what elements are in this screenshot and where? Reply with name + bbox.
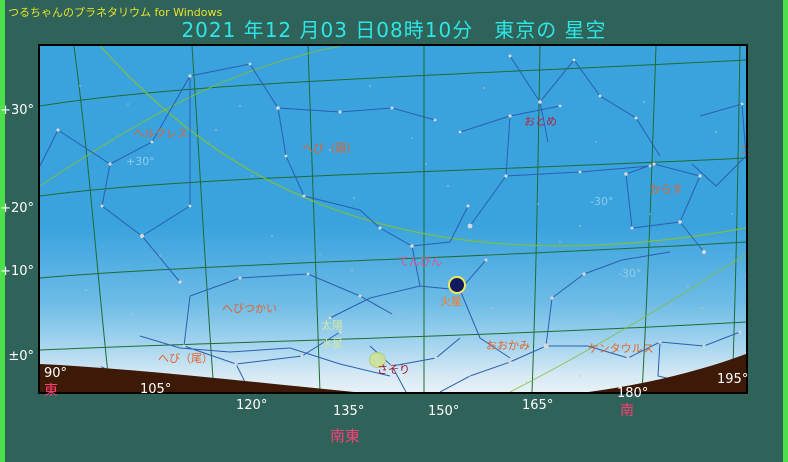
constellation-label-ophiuchus: へびつかい: [222, 303, 277, 314]
azimuth-tick-120: 120°: [236, 398, 267, 413]
constellation-label-corvus: からす: [650, 184, 683, 195]
azimuth-tick-150: 150°: [428, 404, 459, 419]
constellation-label-serpens-caput: へび（頭）: [302, 143, 357, 154]
chart-title: 2021 年12 月03 日08時10分 東京の 星空: [0, 14, 788, 43]
planet-label-mars: 火星: [440, 296, 462, 307]
grid-label-dec-minus30-a: -30°: [590, 196, 613, 207]
azimuth-tick-105: 105°: [140, 382, 171, 397]
azimuth-tick-90: 90°: [44, 366, 67, 381]
azimuth-tick-195: 195°: [717, 372, 748, 387]
altitude-tick-plus20: +20°: [0, 201, 34, 216]
constellation-label-serpens-cauda: へび（尾）: [158, 353, 213, 364]
constellation-label-scorpius: さそり: [377, 364, 410, 375]
constellation-label-centaurus: ケンタウルス: [588, 343, 654, 354]
planet-label-mercury: 水星: [321, 338, 343, 349]
constellation-label-lupus: おおかみ: [486, 340, 530, 351]
azimuth-tick-135: 135°: [333, 404, 364, 419]
azimuth-tick-180: 180°: [617, 386, 648, 401]
direction-label-east: 東: [44, 380, 58, 400]
constellation-label-crater: コップ: [740, 144, 748, 155]
altitude-tick-zero: ±0°: [0, 349, 34, 364]
grid-label-dec-minus30-b: -30°: [618, 268, 641, 279]
altitude-tick-plus30: +30°: [0, 103, 34, 118]
constellation-label-virgo: おとめ: [524, 116, 557, 127]
planet-marker-mars[interactable]: [448, 276, 466, 294]
sky-chart-panel[interactable]: ヘルクレス へび（頭） おとめ コップ からす てんびん へびつかい へび（尾）…: [38, 44, 748, 394]
constellation-label-hercules: ヘルクレス: [133, 128, 188, 139]
constellation-label-libra: てんびん: [398, 256, 442, 267]
horizon-ground: [40, 46, 746, 392]
grid-label-dec-plus30: +30°: [126, 156, 155, 167]
azimuth-tick-165: 165°: [522, 398, 553, 413]
altitude-tick-plus10: +10°: [0, 264, 34, 279]
direction-label-south: 南: [620, 400, 634, 420]
planet-label-sun: 太陽: [321, 320, 343, 331]
direction-label-southeast: 南東: [330, 425, 360, 446]
